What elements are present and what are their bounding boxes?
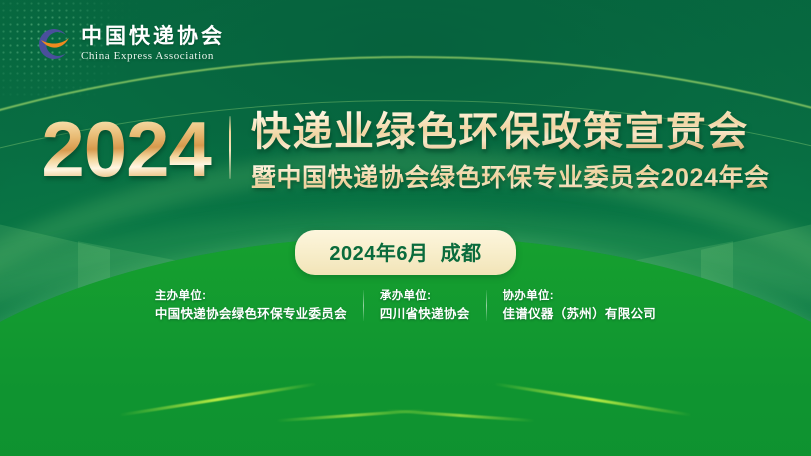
brand-logo-text: 中国快递协会 China Express Association [81,26,225,62]
organizer-undertaker-label: 承办单位: [380,288,470,304]
organizer-coorganizer: 协办单位: 佳谱仪器（苏州）有限公司 [487,288,673,323]
organizer-host-name: 中国快递协会绿色环保专业委员会 [155,305,347,323]
event-title-main: 快递业绿色环保政策宣贯会 [251,108,770,156]
organizer-host-label: 主办单位: [155,288,347,304]
headline-block: 2024 快递业绿色环保政策宣贯会 暨中国快递协会绿色环保专业委员会2024年会 [0,108,811,193]
conference-poster: 中国快递协会 China Express Association 2024 快递… [0,0,811,456]
organizer-undertaker-name: 四川省快递协会 [380,305,470,323]
brand-name-en: China Express Association [81,51,225,62]
brand-logo: 中国快递协会 China Express Association [36,26,225,62]
china-express-association-logo-icon [36,27,72,61]
event-year: 2024 [41,108,229,193]
organizer-host: 主办单位: 中国快递协会绿色环保专业委员会 [139,288,363,323]
brand-name-cn: 中国快递协会 [81,26,225,47]
date-location-badge: 2024年6月 成都 [295,230,515,275]
headline-titles: 快递业绿色环保政策宣贯会 暨中国快递协会绿色环保专业委员会2024年会 [251,108,770,193]
event-meta-row: 2024年6月 成都 [0,230,811,275]
headline-divider [229,116,231,179]
event-title-sub: 暨中国快递协会绿色环保专业委员会2024年会 [251,163,770,193]
organizers-row: 主办单位: 中国快递协会绿色环保专业委员会 承办单位: 四川省快递协会 协办单位… [0,288,811,323]
organizer-coorganizer-label: 协办单位: [503,288,657,304]
organizer-undertaker: 承办单位: 四川省快递协会 [364,288,486,323]
organizer-coorganizer-name: 佳谱仪器（苏州）有限公司 [503,305,657,323]
